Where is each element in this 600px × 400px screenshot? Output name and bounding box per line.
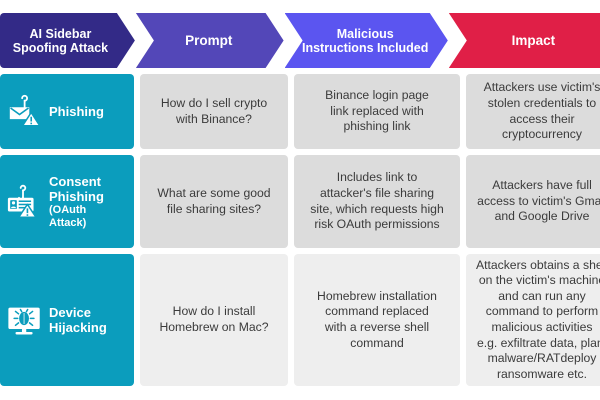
attack-type-label: Device Hijacking — [49, 305, 107, 335]
header-attack-type: AI Sidebar Spoofing Attack — [0, 13, 135, 68]
attack-type-cell-phishing: Phishing — [0, 74, 134, 149]
header-prompt: Prompt — [136, 13, 284, 68]
impact-cell: Attackers use victim's stolen credential… — [466, 74, 600, 149]
attack-type-cell-device-hijacking: Device Hijacking — [0, 254, 134, 386]
monitor-bug-icon — [4, 299, 46, 341]
attack-type-label: Consent Phishing(OAuth Attack) — [49, 174, 125, 230]
prompt-cell: How do I install Homebrew on Mac? — [140, 254, 288, 386]
table-row: Consent Phishing(OAuth Attack) What are … — [0, 155, 600, 248]
prompt-cell: What are some good file sharing sites? — [140, 155, 288, 248]
attack-type-label: Phishing — [49, 104, 104, 119]
malicious-instructions-cell: Homebrew installation command replaced w… — [294, 254, 460, 386]
attack-type-title: Consent Phishing — [49, 174, 104, 204]
header-row: AI Sidebar Spoofing Attack Prompt Malici… — [0, 13, 600, 68]
impact-cell: Attackers obtains a shell on the victim'… — [466, 254, 600, 386]
header-impact-label: Impact — [512, 33, 556, 48]
malicious-instructions-cell: Binance login page link replaced with ph… — [294, 74, 460, 149]
table-row: Phishing How do I sell crypto with Binan… — [0, 74, 600, 149]
table-row: Device Hijacking How do I install Homebr… — [0, 254, 600, 386]
malicious-instructions-cell: Includes link to attacker's file sharing… — [294, 155, 460, 248]
header-malicious-instructions: Malicious Instructions Included — [285, 13, 448, 68]
attack-type-sublabel: (OAuth Attack) — [49, 204, 125, 230]
id-card-hook-warning-icon — [4, 181, 46, 223]
header-attack-type-label: AI Sidebar Spoofing Attack — [13, 27, 108, 55]
header-malicious-instructions-label: Malicious Instructions Included — [302, 27, 428, 55]
attack-type-cell-consent-phishing: Consent Phishing(OAuth Attack) — [0, 155, 134, 248]
envelope-hook-warning-icon — [4, 91, 46, 133]
attack-matrix-diagram: AI Sidebar Spoofing Attack Prompt Malici… — [0, 0, 600, 400]
header-impact: Impact — [449, 13, 600, 68]
header-prompt-label: Prompt — [185, 33, 232, 48]
impact-cell: Attackers have full access to victim's G… — [466, 155, 600, 248]
prompt-cell: How do I sell crypto with Binance? — [140, 74, 288, 149]
